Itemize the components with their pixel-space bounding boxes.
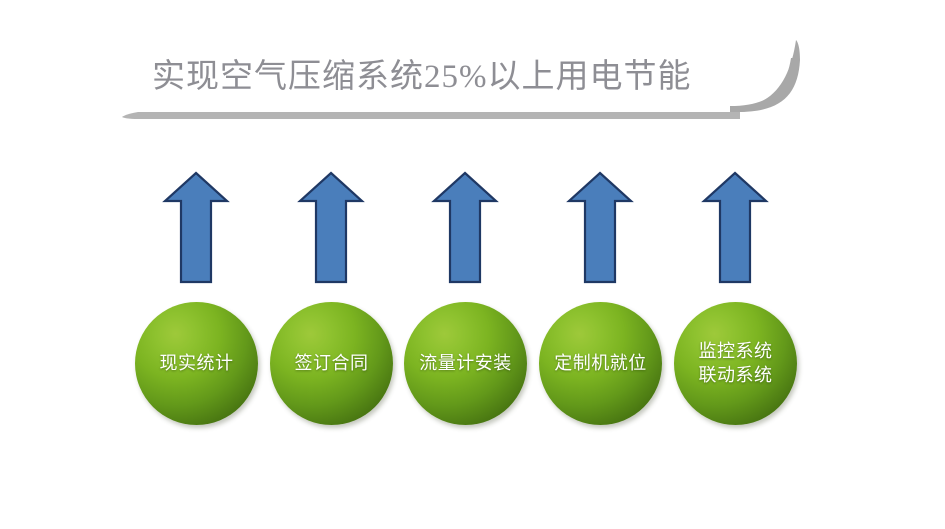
arrows-row [0,170,945,288]
process-node-5[interactable]: 监控系统 联动系统 [674,302,797,425]
process-circles-row: 现实统计 签订合同 流量计安装 定制机就位 监控系统 联动系统 [0,302,945,430]
arrow-up-icon-1 [162,170,230,285]
process-node-2[interactable]: 签订合同 [270,302,393,425]
process-node-label-4: 定制机就位 [548,352,653,376]
process-node-label-3: 流量计安装 [413,352,518,376]
process-node-label-1: 现实统计 [154,352,240,376]
page-title: 实现空气压缩系统25%以上用电节能 [152,48,772,106]
process-node-3[interactable]: 流量计安装 [404,302,527,425]
process-node-1[interactable]: 现实统计 [135,302,258,425]
slide-canvas: 实现空气压缩系统25%以上用电节能 现实统计 签订合同 流量计安装 [0,0,945,529]
process-node-4[interactable]: 定制机就位 [539,302,662,425]
arrow-up-icon-2 [297,170,365,285]
process-node-label-2: 签订合同 [289,352,375,376]
process-node-label-5: 监控系统 联动系统 [693,340,779,388]
arrow-up-icon-3 [431,170,499,285]
arrow-up-icon-4 [566,170,634,285]
arrow-up-icon-5 [701,170,769,285]
title-banner: 实现空气压缩系统25%以上用电节能 [120,38,800,133]
